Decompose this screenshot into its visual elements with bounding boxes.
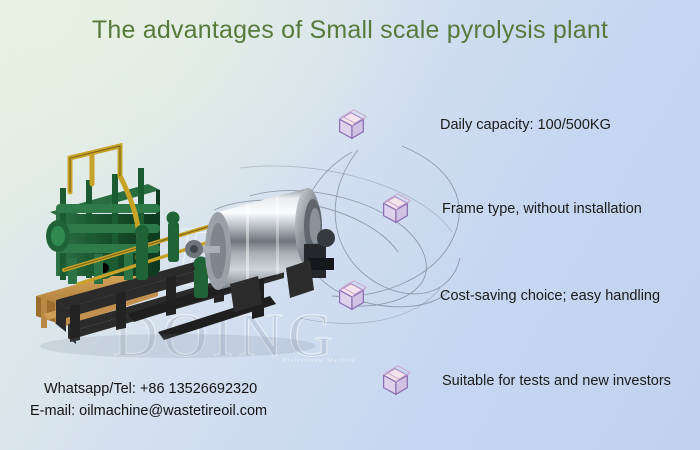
feature-item-cost-saving[interactable]: Cost-saving choice; easy handling xyxy=(332,277,660,315)
feature-label: Suitable for tests and new investors xyxy=(442,373,671,389)
cube-icon xyxy=(376,190,414,228)
page-title: The advantages of Small scale pyrolysis … xyxy=(0,16,700,45)
feature-item-suitable-for-tests[interactable]: Suitable for tests and new investors xyxy=(376,362,671,400)
contact-block: Whatsapp/Tel: +86 13526692320 E-mail: oi… xyxy=(44,378,267,422)
cube-icon xyxy=(332,106,370,144)
feature-label: Frame type, without installation xyxy=(442,201,642,217)
poster-canvas: The advantages of Small scale pyrolysis … xyxy=(0,0,700,450)
feature-label: Daily capacity: 100/500KG xyxy=(440,117,611,133)
product-photo-pyrolysis-plant xyxy=(8,118,368,368)
cube-icon xyxy=(332,277,370,315)
contact-email[interactable]: E-mail: oilmachine@wastetireoil.com xyxy=(30,400,267,422)
feature-item-daily-capacity[interactable]: Daily capacity: 100/500KG xyxy=(332,106,611,144)
feature-label: Cost-saving choice; easy handling xyxy=(440,288,660,304)
cube-icon xyxy=(376,362,414,400)
feature-item-frame-type[interactable]: Frame type, without installation xyxy=(376,190,642,228)
contact-phone[interactable]: Whatsapp/Tel: +86 13526692320 xyxy=(44,378,267,400)
